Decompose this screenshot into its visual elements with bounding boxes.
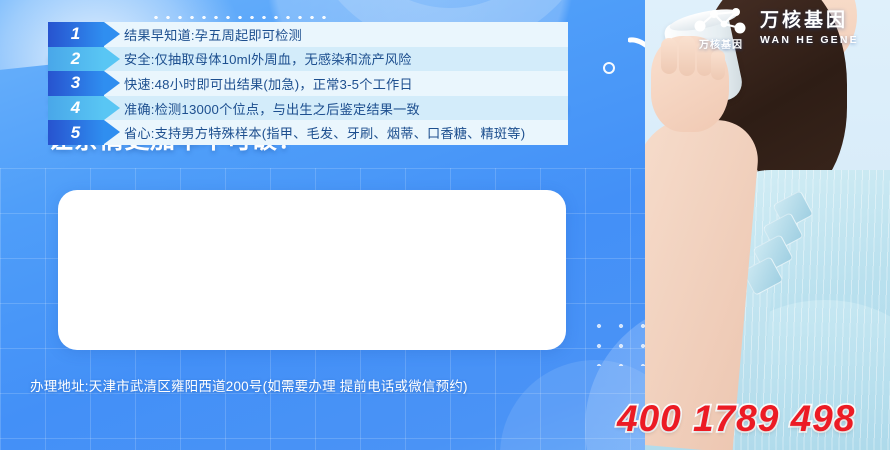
- molecule-network-icon: 万核基因: [690, 6, 752, 50]
- feature-number: 2: [48, 47, 104, 72]
- model-photo: [645, 0, 890, 450]
- feature-number: 5: [48, 120, 104, 145]
- feature-number: 3: [48, 71, 104, 96]
- feature-text: 省心:支持男方特殊样本(指甲、毛发、牙刷、烟蒂、口香糖、精斑等): [104, 120, 568, 145]
- feature-text: 准确:检测13000个位点，与出生之后鉴定结果一致: [104, 96, 568, 121]
- feature-text: 结果早知道:孕五周起即可检测: [104, 22, 568, 47]
- logo-mark-label: 万核基因: [690, 36, 752, 51]
- logo-name-en: WAN HE GENE: [760, 35, 859, 46]
- molecule-network-svg: [690, 6, 752, 38]
- feature-row: 4 准确:检测13000个位点，与出生之后鉴定结果一致: [48, 96, 568, 121]
- logo-text: 万核基因 WAN HE GENE: [760, 11, 859, 46]
- feature-number: 4: [48, 96, 104, 121]
- promo-banner: 万核基因 万核基因 WAN HE GENE 舒适、准确、无痛无创 无创亲子鉴定，…: [0, 0, 890, 450]
- feature-text: 安全:仅抽取母体10ml外周血，无感染和流产风险: [104, 47, 568, 72]
- feature-row: 2 安全:仅抽取母体10ml外周血，无感染和流产风险: [48, 47, 568, 72]
- feature-row: 5 省心:支持男方特殊样本(指甲、毛发、牙刷、烟蒂、口香糖、精斑等): [48, 120, 568, 145]
- logo-name-cn: 万核基因: [760, 11, 859, 30]
- contact-phone-number[interactable]: 400 1789 498: [617, 398, 855, 440]
- feature-text: 快速:48小时即可出结果(加急)，正常3-5个工作日: [104, 71, 568, 96]
- feature-card: [58, 190, 566, 350]
- brand-logo[interactable]: 万核基因 万核基因 WAN HE GENE: [690, 6, 859, 50]
- office-address: 办理地址:天津市武清区雍阳西道200号(如需要办理 提前电话或微信预约): [30, 375, 468, 395]
- feature-number: 1: [48, 22, 104, 47]
- feature-row: 3 快速:48小时即可出结果(加急)，正常3-5个工作日: [48, 71, 568, 96]
- feature-row: 1 结果早知道:孕五周起即可检测: [48, 22, 568, 47]
- feature-list: 1 结果早知道:孕五周起即可检测 2 安全:仅抽取母体10ml外周血，无感染和流…: [48, 22, 568, 145]
